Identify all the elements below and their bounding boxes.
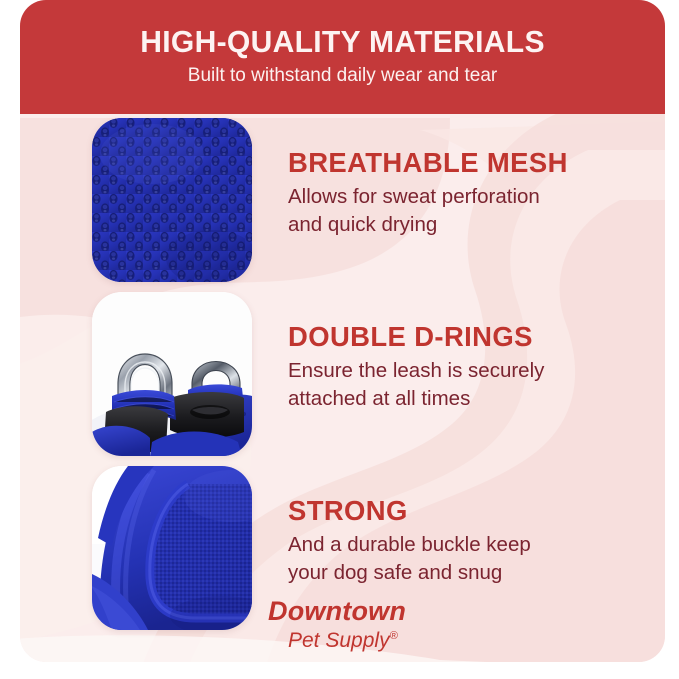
bottom-margin	[0, 662, 679, 679]
double-d-rings-image	[92, 292, 252, 456]
right-margin	[665, 0, 679, 679]
feature-body: Allows for sweat perforation and quick d…	[288, 183, 573, 238]
brand-name-line2-text: Pet Supply	[288, 629, 390, 652]
feature-text: BREATHABLE MESH Allows for sweat perfora…	[288, 118, 573, 238]
feature-item: BREATHABLE MESH Allows for sweat perfora…	[92, 118, 573, 282]
feature-heading: DOUBLE D-RINGS	[288, 322, 539, 351]
brand-logo: Downtown Pet Supply®	[268, 598, 406, 651]
brand-name-line1: Downtown	[268, 598, 406, 625]
feature-text: DOUBLE D-RINGS Ensure the leash is secur…	[288, 292, 544, 412]
feature-body: And a durable buckle keep your dog safe …	[288, 531, 531, 586]
feature-heading: STRONG	[288, 496, 526, 525]
feature-item: DOUBLE D-RINGS Ensure the leash is secur…	[92, 292, 544, 456]
brand-name-line2: Pet Supply®	[288, 630, 406, 651]
left-margin	[0, 0, 20, 679]
feature-body: Ensure the leash is securely attached at…	[288, 357, 544, 412]
breathable-mesh-image	[92, 118, 252, 282]
infographic-canvas: HIGH-QUALITY MATERIALS Built to withstan…	[0, 0, 679, 679]
registered-trademark-icon: ®	[390, 630, 398, 642]
feature-text: STRONG And a durable buckle keep your do…	[288, 466, 531, 586]
feature-heading: BREATHABLE MESH	[288, 148, 568, 177]
strong-padding-image	[92, 466, 252, 630]
feature-list: BREATHABLE MESH Allows for sweat perfora…	[0, 0, 679, 679]
